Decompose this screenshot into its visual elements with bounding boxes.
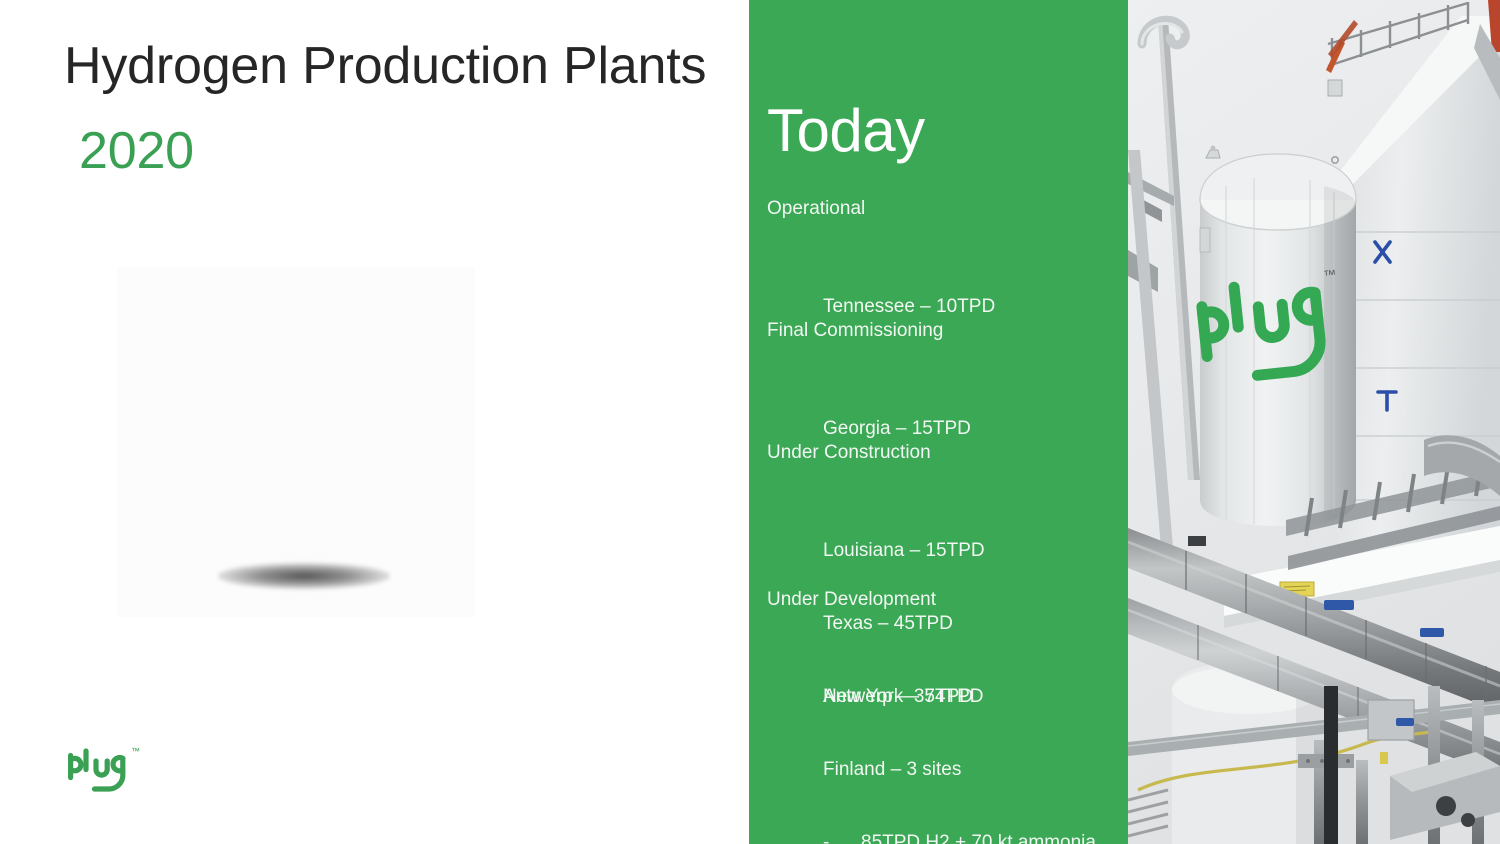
section-label-final-commissioning: Final Commissioning [767,319,943,343]
section-label-under-development: Under Development [767,588,936,612]
list-item: Tennessee – 10TPD [823,295,995,319]
section-label-operational: Operational [767,197,865,221]
svg-text:™: ™ [1323,267,1337,283]
list-item: - 85TPD H2 + 70 kt ammonia [823,831,1096,844]
plant-photo: ™ [1128,0,1500,844]
list-item: Finland – 3 sites [823,758,1096,782]
section-items-operational: Tennessee – 10TPD [823,246,995,368]
page-title: Hydrogen Production Plants [64,37,706,95]
list-item: Louisiana – 15TPD [823,539,985,563]
list-item: Georgia – 15TPD [823,417,971,441]
left-content-panel: Hydrogen Production Plants 2020 [0,0,749,844]
section-label-under-construction: Under Construction [767,441,931,465]
section-items-final-commissioning: Georgia – 15TPD [823,368,971,490]
product-drop-shadow [218,563,390,589]
plug-logo-trademark: ™ [131,746,140,756]
slide-canvas: Hydrogen Production Plants 2020 [0,0,1500,844]
list-item: Texas – 45TPD [823,612,985,636]
today-green-panel: Today Operational Tennessee – 10TPD Fina… [749,0,1128,844]
list-item: Antwerp – 35TPD [823,685,1096,709]
page-subtitle-year: 2020 [79,122,194,180]
section-items-under-development: Antwerp – 35TPD Finland – 3 sites - 85TP… [823,636,1096,844]
green-panel-heading: Today [767,99,925,162]
